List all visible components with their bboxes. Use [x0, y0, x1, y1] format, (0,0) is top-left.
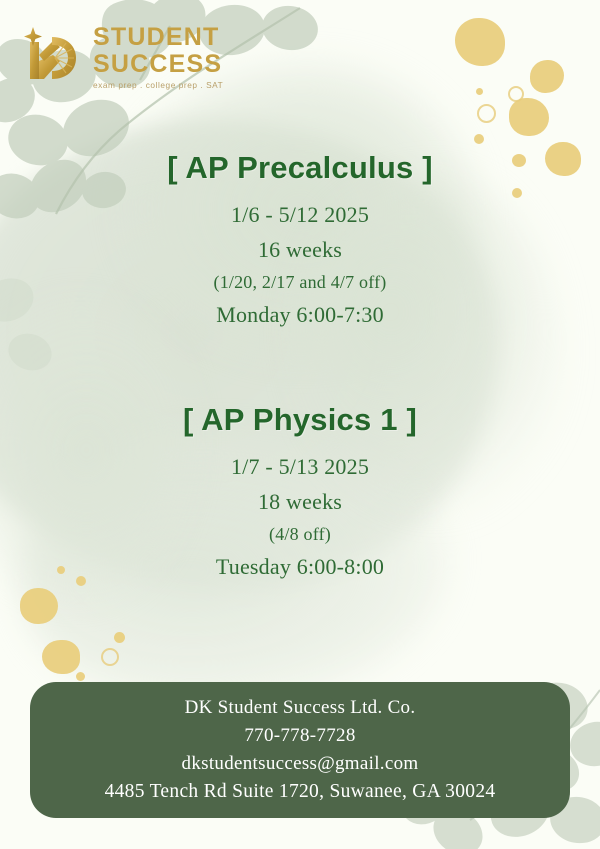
gold-splatter — [42, 640, 80, 674]
brand-line-2: SUCCESS — [93, 51, 223, 78]
course-dates: 1/7 - 5/13 2025 — [0, 454, 600, 480]
course-schedule: Tuesday 6:00-8:00 — [0, 554, 600, 580]
gold-splatter-ring — [477, 104, 496, 123]
gold-splatter — [530, 60, 564, 93]
brand-wordmark: STUDENT SUCCESS exam prep . college prep… — [93, 22, 223, 89]
gold-splatter — [509, 98, 549, 136]
course-title: [ AP Physics 1 ] — [0, 402, 600, 438]
gold-splatter — [476, 88, 483, 95]
dk-monogram-icon — [22, 25, 84, 87]
course-block-precalculus: [ AP Precalculus ] 1/6 - 5/12 2025 16 we… — [0, 150, 600, 328]
course-duration: 18 weeks — [0, 489, 600, 515]
contact-footer: DK Student Success Ltd. Co. 770-778-7728… — [30, 682, 570, 818]
course-block-physics: [ AP Physics 1 ] 1/7 - 5/13 2025 18 week… — [0, 402, 600, 580]
gold-splatter-ring — [508, 86, 524, 102]
gold-splatter — [455, 18, 505, 66]
gold-splatter — [76, 672, 85, 681]
course-duration: 16 weeks — [0, 237, 600, 263]
street-address: 4485 Tench Rd Suite 1720, Suwanee, GA 30… — [105, 781, 496, 803]
gold-splatter — [114, 632, 125, 643]
brand-logo: STUDENT SUCCESS exam prep . college prep… — [22, 22, 223, 89]
course-off-days: (4/8 off) — [0, 524, 600, 545]
course-title: [ AP Precalculus ] — [0, 150, 600, 186]
brand-line-1: STUDENT — [93, 24, 223, 51]
gold-splatter-ring — [101, 648, 119, 666]
gold-splatter — [474, 134, 484, 144]
phone-number[interactable]: 770-778-7728 — [244, 725, 355, 747]
course-dates: 1/6 - 5/12 2025 — [0, 202, 600, 228]
gold-splatter — [20, 588, 58, 624]
brand-tagline: exam prep . college prep . SAT — [93, 81, 223, 89]
company-name: DK Student Success Ltd. Co. — [185, 697, 416, 719]
course-schedule: Monday 6:00-7:30 — [0, 302, 600, 328]
email-address[interactable]: dkstudentsuccess@gmail.com — [182, 753, 419, 775]
course-off-days: (1/20, 2/17 and 4/7 off) — [0, 272, 600, 293]
course-flyer-poster: STUDENT SUCCESS exam prep . college prep… — [0, 0, 600, 849]
course-list: [ AP Precalculus ] 1/6 - 5/12 2025 16 we… — [0, 150, 600, 580]
